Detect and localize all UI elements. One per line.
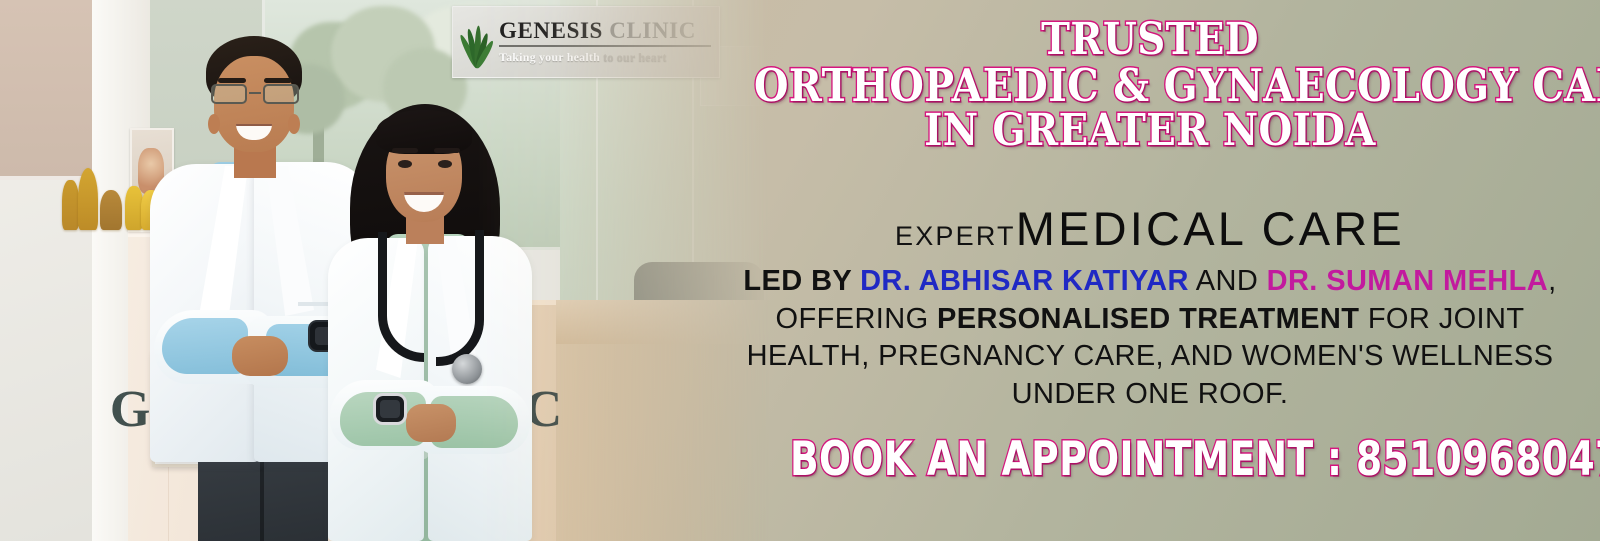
trailing-comma: , (1548, 265, 1556, 297)
personalised-treatment-emphasis: PERSONALISED TREATMENT (937, 303, 1359, 335)
body-line-under-one-roof: UNDER ONE ROOF. (700, 376, 1600, 414)
body-line-health: HEALTH, PREGNANCY CARE, AND WOMEN'S WELL… (700, 338, 1600, 376)
window-blind (0, 0, 96, 180)
subhead-expert-word: EXPERT (895, 221, 1016, 251)
doctor-2-name: DR. SUMAN MEHLA (1267, 265, 1549, 297)
promo-text-block: TRUSTED ORTHOPAEDIC & GYNAECOLOGY CARE I… (700, 0, 1600, 541)
hands-crossed (406, 404, 456, 442)
headline: TRUSTED ORTHOPAEDIC & GYNAECOLOGY CARE I… (754, 18, 1546, 154)
doctor-1-name: DR. ABHISAR KATIYAR (860, 265, 1189, 297)
offering-prefix: OFFERING (776, 303, 938, 335)
headline-line-2: ORTHOPAEDIC & GYNAECOLOGY CARE (754, 63, 1546, 109)
smartwatch (376, 396, 404, 422)
offering-suffix: FOR JOINT (1359, 303, 1524, 335)
clinic-name-primary: GENESIS (499, 18, 609, 43)
subhead-medical-care: EXPERTMEDICAL CARE (700, 205, 1600, 252)
eyebrow (434, 148, 460, 153)
eye (398, 160, 412, 168)
eyeglasses (208, 84, 302, 104)
headline-line-1: TRUSTED (754, 18, 1546, 63)
clinic-sign-title: GENESIS CLINIC (499, 19, 711, 43)
female-doctor (324, 104, 536, 541)
eyebrow (264, 78, 292, 83)
decor-figurine (62, 180, 79, 230)
clinic-sign-text: GENESIS CLINIC Taking your health to our… (493, 19, 711, 65)
clinic-interior: GENESIS CLINIC (0, 0, 770, 541)
body-line-led-by: LED BY DR. ABHISAR KATIYAR AND DR. SUMAN… (700, 263, 1600, 301)
decor-figurine (100, 190, 122, 230)
decor-figurine (78, 168, 98, 230)
clinic-sign-top: GENESIS CLINIC Taking your health to our… (452, 6, 720, 78)
clinic-promo-banner: GENESIS CLINIC (0, 0, 1600, 541)
body-copy: EXPERTMEDICAL CARE LED BY DR. ABHISAR KA… (700, 205, 1600, 414)
conjunction-and: AND (1189, 265, 1267, 297)
book-appointment-cta[interactable]: BOOK AN APPOINTMENT : 8510968047 (790, 432, 1510, 487)
clinic-tagline: Taking your health to our heart (499, 50, 711, 65)
sign-divider (499, 45, 711, 47)
clinic-photo: GENESIS CLINIC (0, 0, 770, 541)
eyebrow (218, 78, 246, 83)
eyebrow (392, 148, 418, 153)
clinic-name-secondary: CLINIC (609, 18, 696, 43)
subhead-medical-care-words: MEDICAL CARE (1016, 202, 1405, 255)
green-leaf-logo-icon (459, 14, 493, 70)
stethoscope-bell (452, 354, 482, 384)
hands-crossed (232, 336, 288, 376)
headline-line-3: IN GREATER NOIDA (754, 109, 1546, 154)
led-by-label: LED BY (743, 265, 860, 297)
eye (438, 160, 452, 168)
body-line-offering: OFFERING PERSONALISED TREATMENT FOR JOIN… (700, 301, 1600, 339)
clinic-tagline-part1: Taking your health (499, 50, 603, 64)
clinic-tagline-part2: to our heart (603, 50, 667, 64)
